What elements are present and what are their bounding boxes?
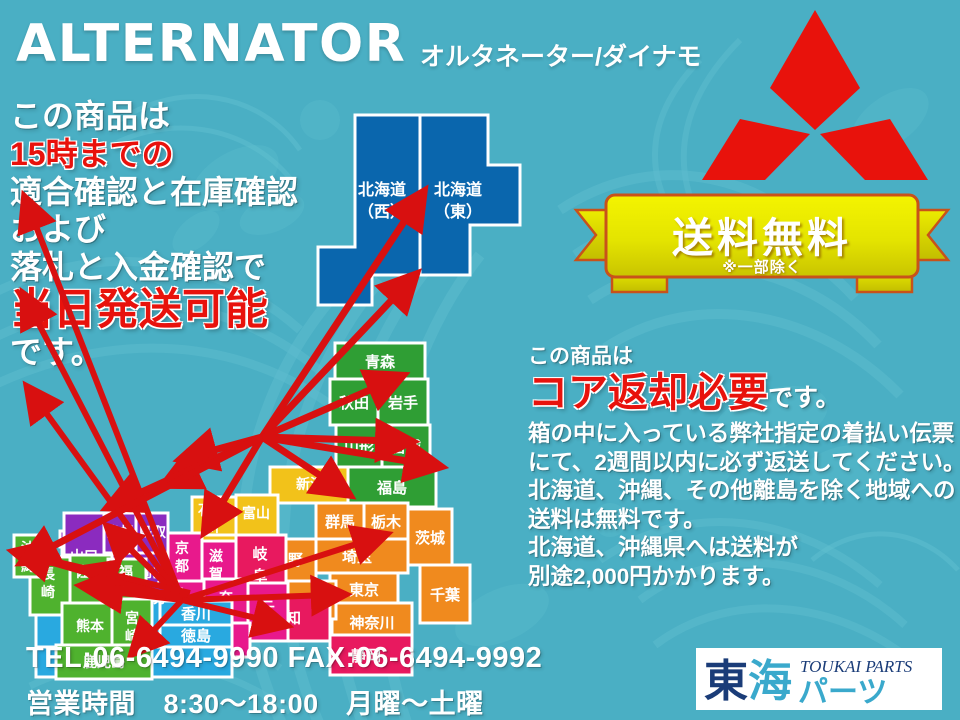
right-promo-body-5: 北海道、沖縄県へは送料が bbox=[528, 534, 948, 563]
business-hours: 営業時間 8:30〜18:00 月曜〜土曜 bbox=[26, 682, 484, 720]
right-promo-body-3: 北海道、沖縄、その他離島を除く地域への bbox=[528, 477, 948, 506]
right-promo-body-2: にて、2週間以内に必ず返送してください。 bbox=[528, 449, 948, 478]
logo-kanji: 東 bbox=[704, 656, 748, 707]
toukai-parts-logo: 東 海 TOUKAI PARTS パーツ bbox=[696, 648, 942, 710]
contact-tel-fax: TEL:06-6494-9990 FAX:06-6494-9992 bbox=[26, 642, 542, 675]
footer-bar: TEL:06-6494-9990 FAX:06-6494-9992 営業時間 8… bbox=[0, 628, 960, 720]
right-promo-body-4: 送料は無料です。 bbox=[528, 506, 948, 535]
free-shipping-ribbon: 送料無料 ※一部除く bbox=[572, 190, 952, 300]
japan-map: 北海道 （西） 北海道 （東） 青森 秋田 岩手 山形 宮城 福島 bbox=[0, 95, 560, 615]
right-promo-headline-tail: です。 bbox=[768, 384, 841, 412]
right-promo-intro: この商品は bbox=[528, 345, 948, 369]
logo-katakana: パーツ bbox=[798, 675, 887, 710]
page-title: ALTERNATOR bbox=[16, 18, 406, 70]
right-promo-headline-text: コア返却必要 bbox=[528, 371, 768, 415]
page-subtitle: オルタネーター/ダイナモ bbox=[420, 45, 701, 70]
right-promo-body-1: 箱の中に入っている弊社指定の着払い伝票 bbox=[528, 420, 948, 449]
right-promo-block: この商品は コア返却必要です。 箱の中に入っている弊社指定の着払い伝票 にて、2… bbox=[528, 345, 948, 591]
right-promo-headline: コア返却必要です。 bbox=[528, 371, 948, 416]
flyer-canvas: ALTERNATOR オルタネーター/ダイナモ この商品は 15時までの 適合確… bbox=[0, 0, 960, 720]
mitsubishi-logo-icon bbox=[700, 8, 930, 193]
logo-kanji-2: 海 bbox=[748, 656, 792, 707]
right-promo-body-6: 別途2,000円かかります。 bbox=[528, 563, 948, 592]
map-region-hokkaido bbox=[318, 115, 520, 305]
logo-romaji: TOUKAI PARTS bbox=[800, 657, 913, 676]
